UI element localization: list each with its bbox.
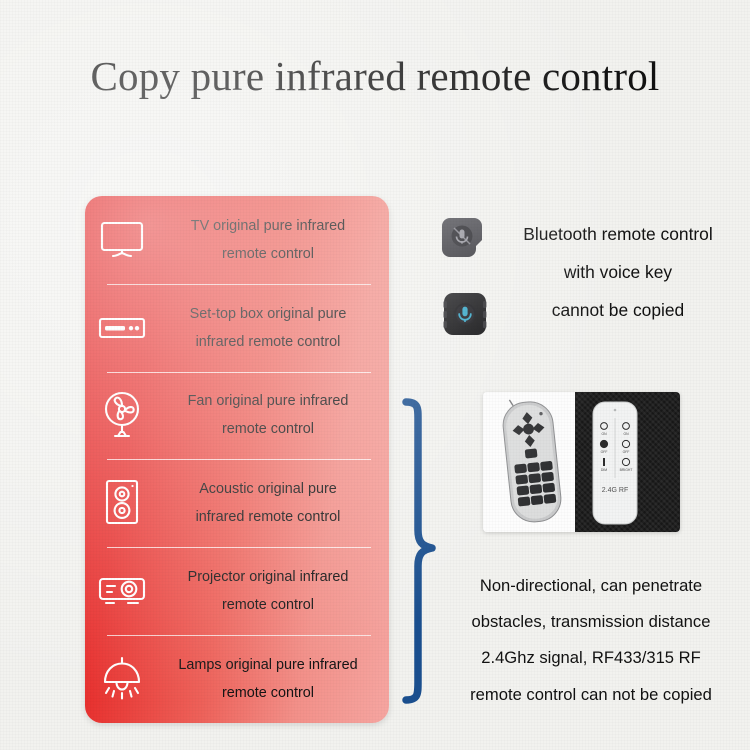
speaker-icon: [85, 479, 159, 527]
svg-text:BRIGHT: BRIGHT: [620, 468, 633, 472]
remote-print-label: 2.4G RF: [602, 487, 628, 494]
white-wall-remote: ONON OFFOFF DIMBRIGHT 2.4G RF: [593, 402, 637, 524]
lamp-icon: [85, 655, 159, 703]
list-item: Fan original pure infrared remote contro…: [85, 372, 389, 460]
list-item-text: TV original pure infrared remote control: [159, 212, 389, 268]
microphone-muted-icon: [441, 216, 483, 263]
rf-remotes-photo: ONON OFFOFF DIMBRIGHT 2.4G RF: [483, 392, 680, 532]
list-item-line1: Fan original pure infrared: [159, 387, 377, 415]
rf-note-line2: obstacles, transmission distance: [432, 604, 750, 640]
rf-note-text: Non-directional, can penetrate obstacles…: [432, 568, 750, 713]
rf-note-line4: remote control can not be copied: [432, 677, 750, 713]
bluetooth-note-line1: Bluetooth remote control: [486, 216, 750, 254]
list-item-line1: Projector original infrared: [159, 563, 377, 591]
projector-icon: [85, 574, 159, 608]
infrared-devices-card: TV original pure infrared remote control…: [85, 196, 389, 723]
svg-text:OFF: OFF: [601, 450, 608, 454]
tv-icon: [85, 221, 159, 259]
page-title: Copy pure infrared remote control: [0, 52, 750, 100]
list-item-text: Projector original infrared remote contr…: [159, 563, 389, 619]
list-item-line1: Lamps original pure infrared: [159, 651, 377, 679]
list-item-line2: remote control: [159, 240, 377, 268]
list-item-line1: Acoustic original pure: [159, 475, 377, 503]
list-item-text: Fan original pure infrared remote contro…: [159, 387, 389, 443]
list-item: Lamps original pure infrared remote cont…: [85, 635, 389, 723]
list-item-line2: remote control: [159, 679, 377, 707]
microphone-icon: [443, 292, 487, 341]
list-item-text: Lamps original pure infrared remote cont…: [159, 651, 389, 707]
list-item-text: Set-top box original pure infrared remot…: [159, 300, 389, 356]
fan-icon: [85, 391, 159, 439]
list-item-line2: infrared remote control: [159, 503, 377, 531]
svg-text:OFF: OFF: [623, 450, 630, 454]
list-item-line2: remote control: [159, 591, 377, 619]
bluetooth-note-text: Bluetooth remote control with voice key …: [486, 216, 750, 329]
list-item: TV original pure infrared remote control: [85, 196, 389, 284]
list-item-line1: Set-top box original pure: [159, 300, 377, 328]
list-item-line2: remote control: [159, 415, 377, 443]
settop-box-icon: [85, 315, 159, 341]
rf-note-line1: Non-directional, can penetrate: [432, 568, 750, 604]
list-item-line1: TV original pure infrared: [159, 212, 377, 240]
rf-note-line3: 2.4Ghz signal, RF433/315 RF: [432, 640, 750, 676]
bluetooth-note-line2: with voice key: [486, 254, 750, 292]
list-item: Acoustic original pure infrared remote c…: [85, 459, 389, 547]
list-item-line2: infrared remote control: [159, 328, 377, 356]
list-item: Set-top box original pure infrared remot…: [85, 284, 389, 372]
list-item-text: Acoustic original pure infrared remote c…: [159, 475, 389, 531]
svg-text:ON: ON: [601, 432, 607, 436]
svg-text:ON: ON: [623, 432, 629, 436]
svg-text:DIM: DIM: [601, 468, 607, 472]
list-item: Projector original infrared remote contr…: [85, 547, 389, 635]
bluetooth-note-line3: cannot be copied: [486, 292, 750, 330]
